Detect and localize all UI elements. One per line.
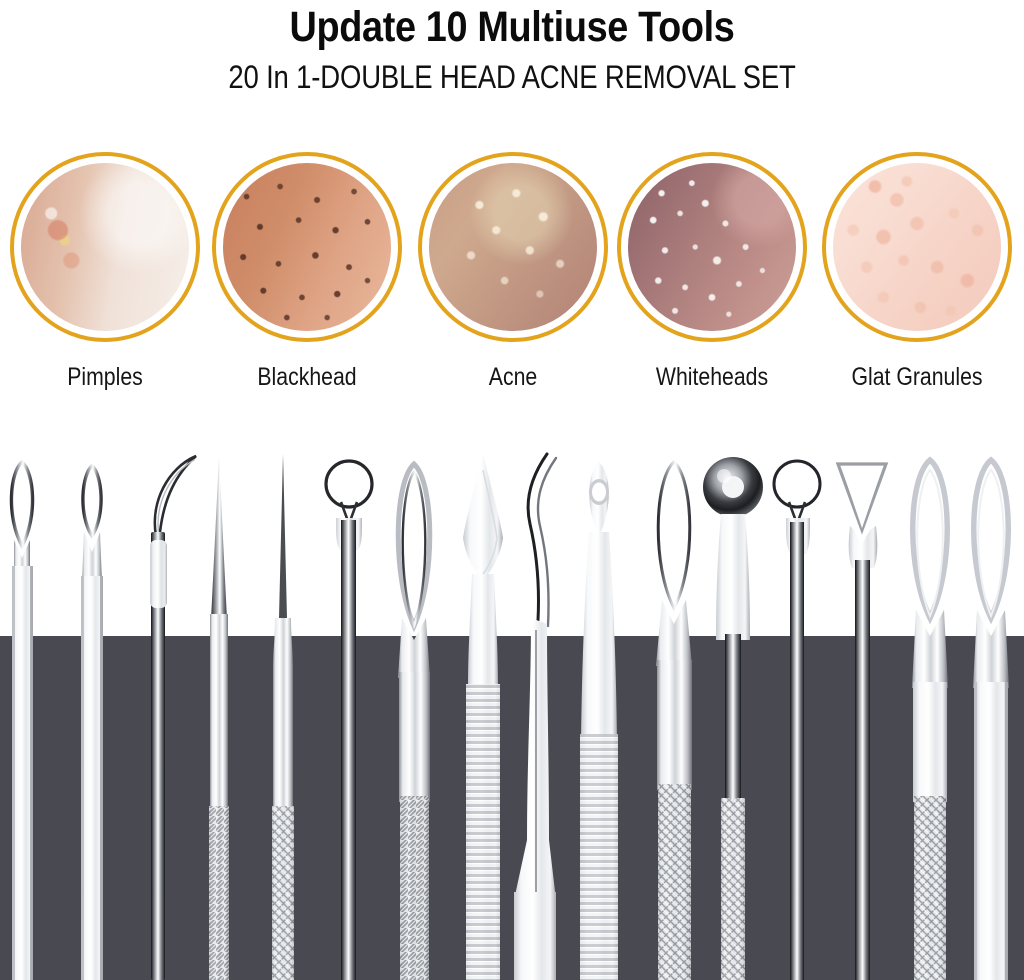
condition-item-blackhead: Blackhead — [209, 152, 405, 392]
tool-6-round-wire-loop — [326, 461, 372, 980]
tool-8-spear-spatula — [463, 454, 503, 980]
tool-7-large-oval-loop — [398, 464, 430, 980]
page-title: Update 10 Multiuse Tools — [61, 0, 962, 52]
skin-texture-granules — [833, 163, 1001, 331]
condition-photo — [21, 163, 189, 331]
skin-texture-pimples — [21, 163, 189, 331]
tool-11-tall-oval-loop — [656, 462, 692, 980]
tool-16-oval-loop-wide — [973, 460, 1009, 980]
page-subtitle: 20 In 1-DOUBLE HEAD ACNE REMOVAL SET — [72, 52, 953, 96]
condition-label: Glat Granules — [834, 362, 1001, 392]
skin-texture-acne — [429, 163, 597, 331]
condition-item-glat-granules: Glat Granules — [819, 152, 1015, 392]
condition-photo — [833, 163, 1001, 331]
tool-4-lance-needle — [209, 456, 229, 980]
tool-3-curved-hook-probe — [150, 456, 196, 980]
condition-photo — [628, 163, 796, 331]
condition-ring — [418, 152, 608, 342]
condition-label: Pimples — [22, 362, 189, 392]
header: Update 10 Multiuse Tools 20 In 1-DOUBLE … — [0, 0, 1024, 96]
tools-panel — [0, 440, 1024, 980]
tool-12-round-comedone-spoon — [703, 457, 763, 980]
condition-photo — [429, 163, 597, 331]
condition-gallery: Pimples Blackhead Acne Whiteheads — [0, 152, 1024, 412]
tool-9-bent-tweezer-probe — [514, 454, 556, 980]
tool-14-triangle-loop — [838, 464, 886, 980]
tool-2-small-teardrop-loop — [81, 466, 103, 980]
condition-label: Whiteheads — [629, 362, 796, 392]
skin-texture-blackhead — [223, 163, 391, 331]
condition-ring — [822, 152, 1012, 342]
tool-10-flat-spoon-with-hole — [580, 462, 618, 980]
tool-13-round-loop-small — [774, 461, 820, 980]
tool-15-oval-loop-wide — [912, 460, 948, 980]
condition-label: Blackhead — [224, 362, 391, 392]
condition-item-whiteheads: Whiteheads — [614, 152, 810, 392]
condition-ring — [617, 152, 807, 342]
tool-1-teardrop-loop-extractor — [11, 462, 33, 980]
condition-item-acne: Acne — [415, 152, 611, 392]
tool-5-fine-needle — [272, 454, 294, 980]
condition-ring — [10, 152, 200, 342]
condition-photo — [223, 163, 391, 331]
skin-texture-whiteheads — [628, 163, 796, 331]
condition-item-pimples: Pimples — [7, 152, 203, 392]
condition-ring — [212, 152, 402, 342]
condition-label: Acne — [430, 362, 597, 392]
tools-illustration — [0, 440, 1024, 980]
